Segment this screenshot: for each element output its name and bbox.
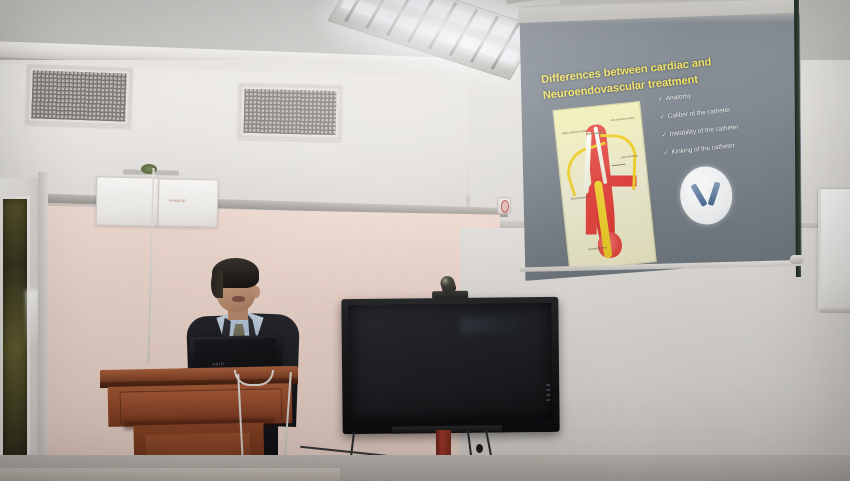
figure-label: Left common carotid xyxy=(611,117,635,122)
ear xyxy=(252,286,260,298)
slide-bullet-list: ✓Anatomy ✓Caliber of the catheter ✓Insta… xyxy=(658,82,805,168)
mouth xyxy=(232,296,245,302)
projected-slide: Differences between cardiac and Neuroend… xyxy=(520,0,821,262)
check-icon: ✓ xyxy=(661,132,667,138)
video-camera xyxy=(432,276,468,301)
list-item: ✓Instability of the catheter xyxy=(661,118,801,139)
vent-grille-icon xyxy=(243,89,336,135)
list-item: ✓Kinking of the catheter xyxy=(663,136,803,157)
pull-down-projection-screen[interactable]: Differences between cardiac and Neuroend… xyxy=(512,0,802,284)
projection-screen-pull-knob[interactable] xyxy=(790,255,804,264)
wall-edge xyxy=(38,172,48,481)
no-smoking-icon xyxy=(501,200,509,213)
plant xyxy=(141,164,157,174)
laptop-brand-label: VAIO xyxy=(212,361,225,366)
chevron-stroke-right xyxy=(707,181,720,206)
chevron-logo xyxy=(677,164,735,227)
figure-label: Right common carotid xyxy=(562,130,587,136)
wall-panel-right: Hospital xyxy=(158,178,219,227)
bullet-label: Kinking of the catheter xyxy=(671,142,735,156)
cable-tie xyxy=(476,444,483,453)
aortic-arch-diagram: Right common carotid Left common carotid… xyxy=(552,101,656,271)
wall-panel-left xyxy=(96,176,160,226)
whiteboard-tray xyxy=(821,308,850,313)
chevron-icon xyxy=(690,182,722,207)
check-icon: ✓ xyxy=(658,97,664,103)
list-item: ✓Caliber of the catheter xyxy=(660,100,800,121)
chevron-stroke-left xyxy=(690,183,707,207)
laptop-screen xyxy=(195,338,278,363)
check-icon: ✓ xyxy=(663,150,669,156)
vent-grille-icon xyxy=(31,70,127,121)
bullet-label: Instability of the catheter xyxy=(669,124,739,138)
presentation-room-photo: Hospital Differences between cardiac and… xyxy=(0,0,850,481)
hair-side xyxy=(211,270,223,298)
screen-reflection xyxy=(460,317,521,334)
television-screen xyxy=(348,303,552,421)
flat-panel-television[interactable] xyxy=(341,297,559,434)
air-vent-left xyxy=(25,64,133,128)
air-vent-right xyxy=(237,83,342,142)
door-highlight xyxy=(26,290,38,350)
bullet-label: Caliber of the catheter xyxy=(667,106,730,120)
laptop-lid xyxy=(189,335,282,369)
floor-foreground xyxy=(0,468,340,481)
whiteboard[interactable] xyxy=(818,188,850,310)
television-indicator-lights xyxy=(546,384,551,408)
wall-panel-label: Hospital xyxy=(169,198,186,203)
bullet-label: Anatomy xyxy=(666,93,692,103)
no-smoking-sign xyxy=(497,197,511,214)
check-icon: ✓ xyxy=(660,114,666,120)
